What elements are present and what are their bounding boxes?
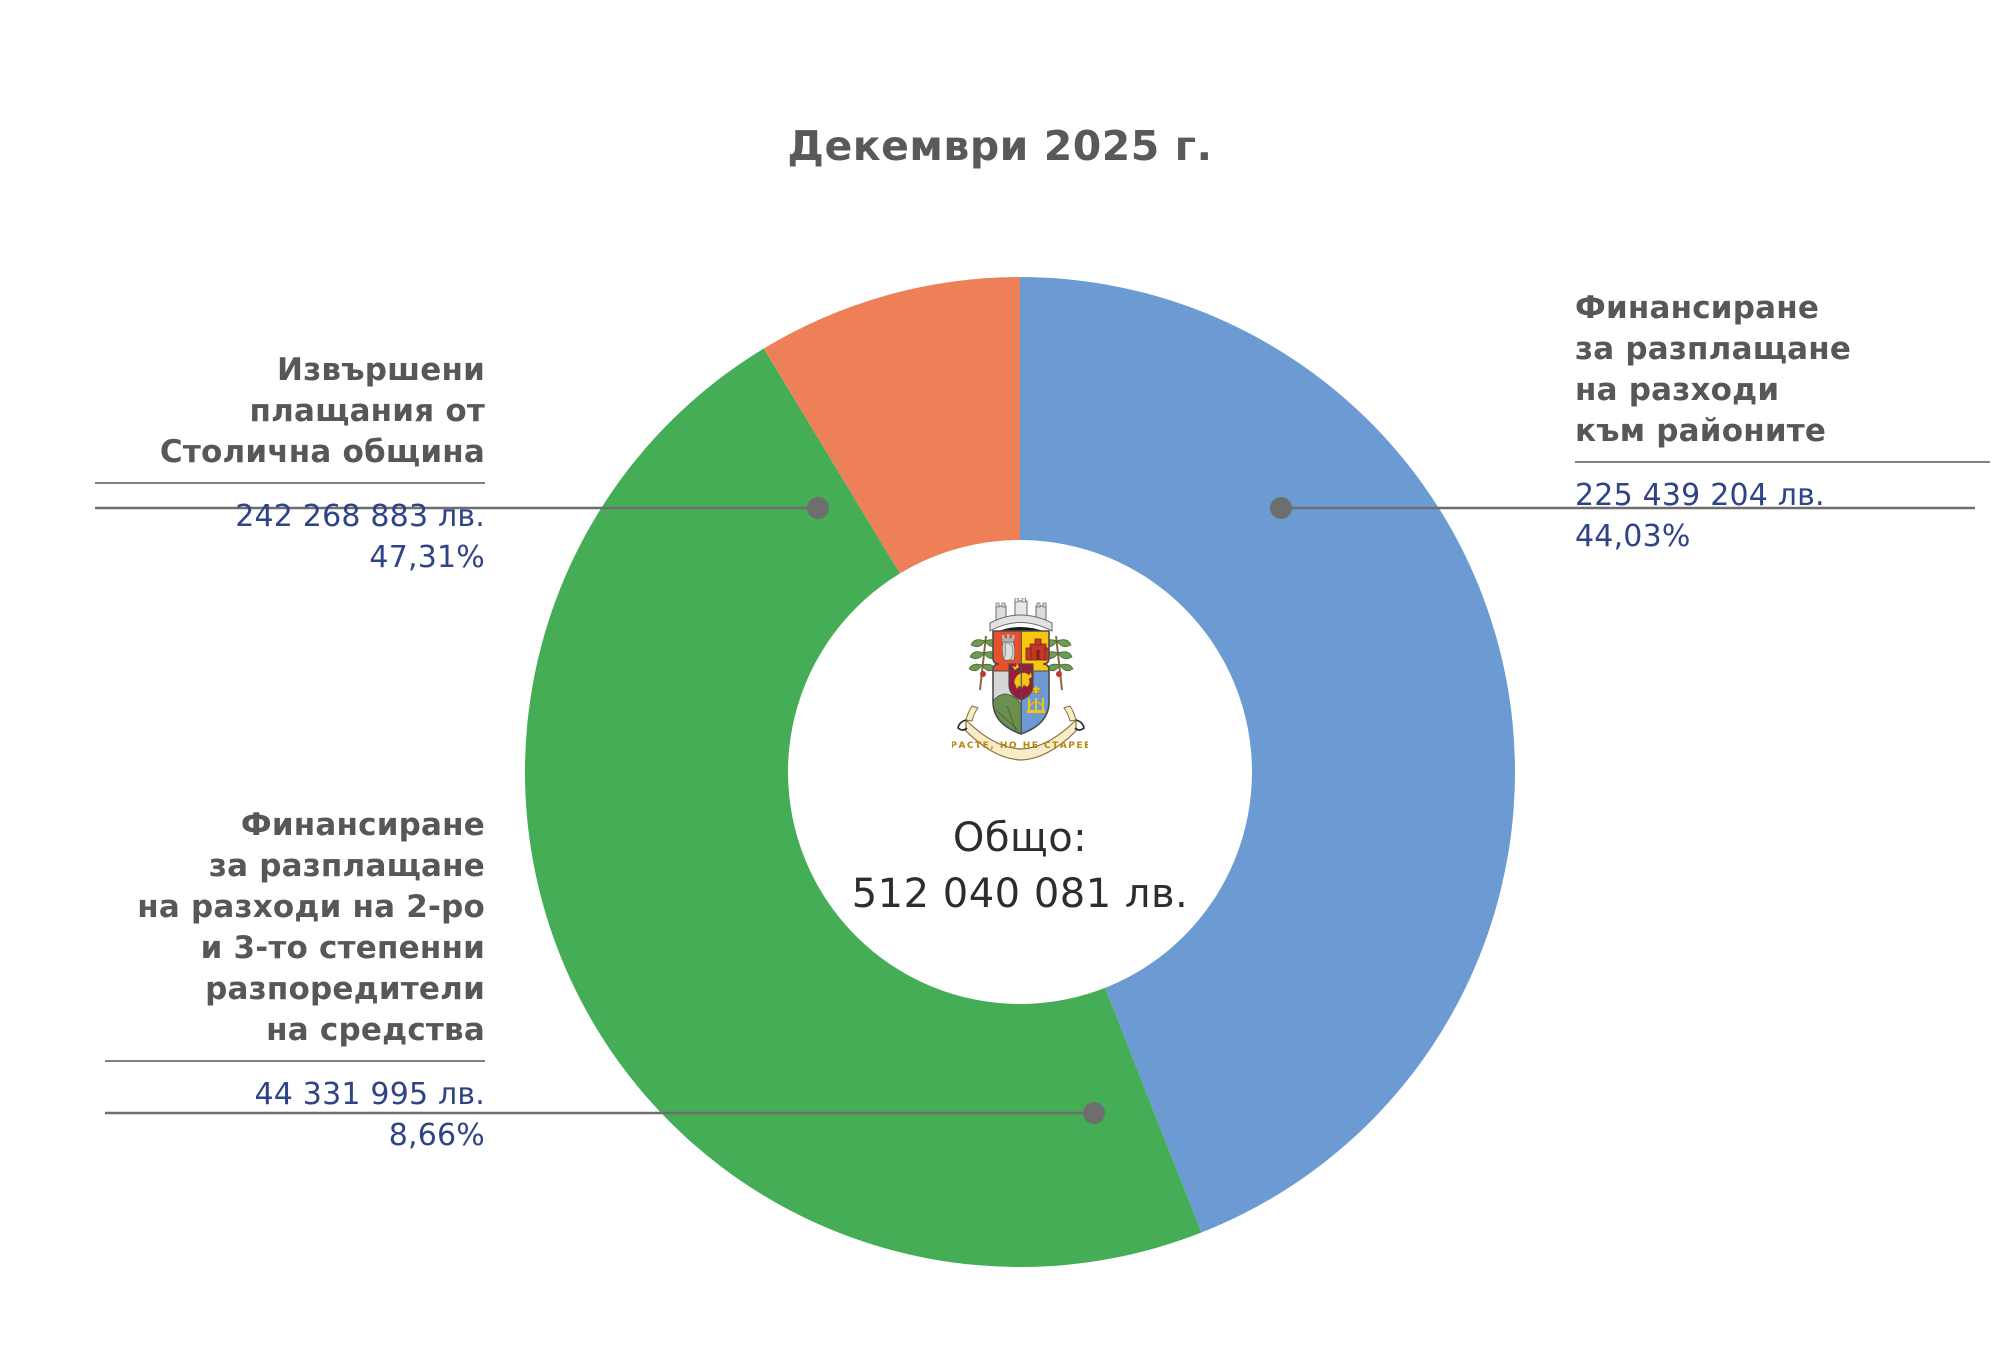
callout-districts-line3: на разходи xyxy=(1575,370,1990,411)
goddess-head-icon xyxy=(1002,634,1015,660)
donut-center-total: Общо: 512 040 081 лв. xyxy=(770,810,1270,922)
callout-spenders-line3: на разходи на 2-ро xyxy=(105,887,485,928)
total-label: Общо: xyxy=(770,810,1270,866)
callout-districts: Финансиране за разплащане на разходи към… xyxy=(1575,288,1990,557)
callout-municipality-values: 242 268 883 лв. 47,31% xyxy=(95,496,485,578)
callout-districts-rule xyxy=(1575,461,1990,463)
callout-municipality-amount: 242 268 883 лв. xyxy=(95,496,485,537)
callout-spenders-amount: 44 331 995 лв. xyxy=(105,1074,485,1115)
shield-icon xyxy=(992,630,1051,738)
callout-spenders-rule xyxy=(105,1060,485,1062)
callout-municipality-percent: 47,31% xyxy=(95,537,485,578)
callout-municipality-rule xyxy=(95,482,485,484)
callout-spenders-line1: Финансиране xyxy=(105,805,485,846)
callout-municipality: Извършени плащания от Столична община 24… xyxy=(95,350,485,578)
callout-spenders-line2: за разплащане xyxy=(105,846,485,887)
callout-spenders-percent: 8,66% xyxy=(105,1115,485,1156)
coat-of-arms-icon: РАСТЕ, НО НЕ СТАРЕЕ xyxy=(952,598,1088,763)
callout-districts-amount: 225 439 204 лв. xyxy=(1575,475,1990,516)
callout-spenders-line4: и 3-то степенни xyxy=(105,928,485,969)
callout-districts-line2: за разплащане xyxy=(1575,329,1990,370)
total-value: 512 040 081 лв. xyxy=(770,866,1270,922)
chart-canvas: Декември 2025 г. xyxy=(0,0,2000,1360)
callout-spenders: Финансиране за разплащане на разходи на … xyxy=(105,805,485,1156)
callout-districts-line4: към районите xyxy=(1575,411,1990,452)
callout-municipality-line3: Столична община xyxy=(95,432,485,473)
callout-spenders-line6: на средства xyxy=(105,1010,485,1051)
motto-text: РАСТЕ, НО НЕ СТАРЕЕ xyxy=(952,741,1088,751)
callout-municipality-line2: плащания от xyxy=(95,391,485,432)
callout-districts-line1: Финансиране xyxy=(1575,288,1990,329)
callout-districts-percent: 44,03% xyxy=(1575,516,1990,557)
sofia-coat-of-arms-emblem: РАСТЕ, НО НЕ СТАРЕЕ xyxy=(952,598,1088,763)
callout-municipality-line1: Извършени xyxy=(95,350,485,391)
callout-districts-values: 225 439 204 лв. 44,03% xyxy=(1575,475,1990,557)
callout-spenders-values: 44 331 995 лв. 8,66% xyxy=(105,1074,485,1156)
callout-spenders-line5: разпоредители xyxy=(105,969,485,1010)
